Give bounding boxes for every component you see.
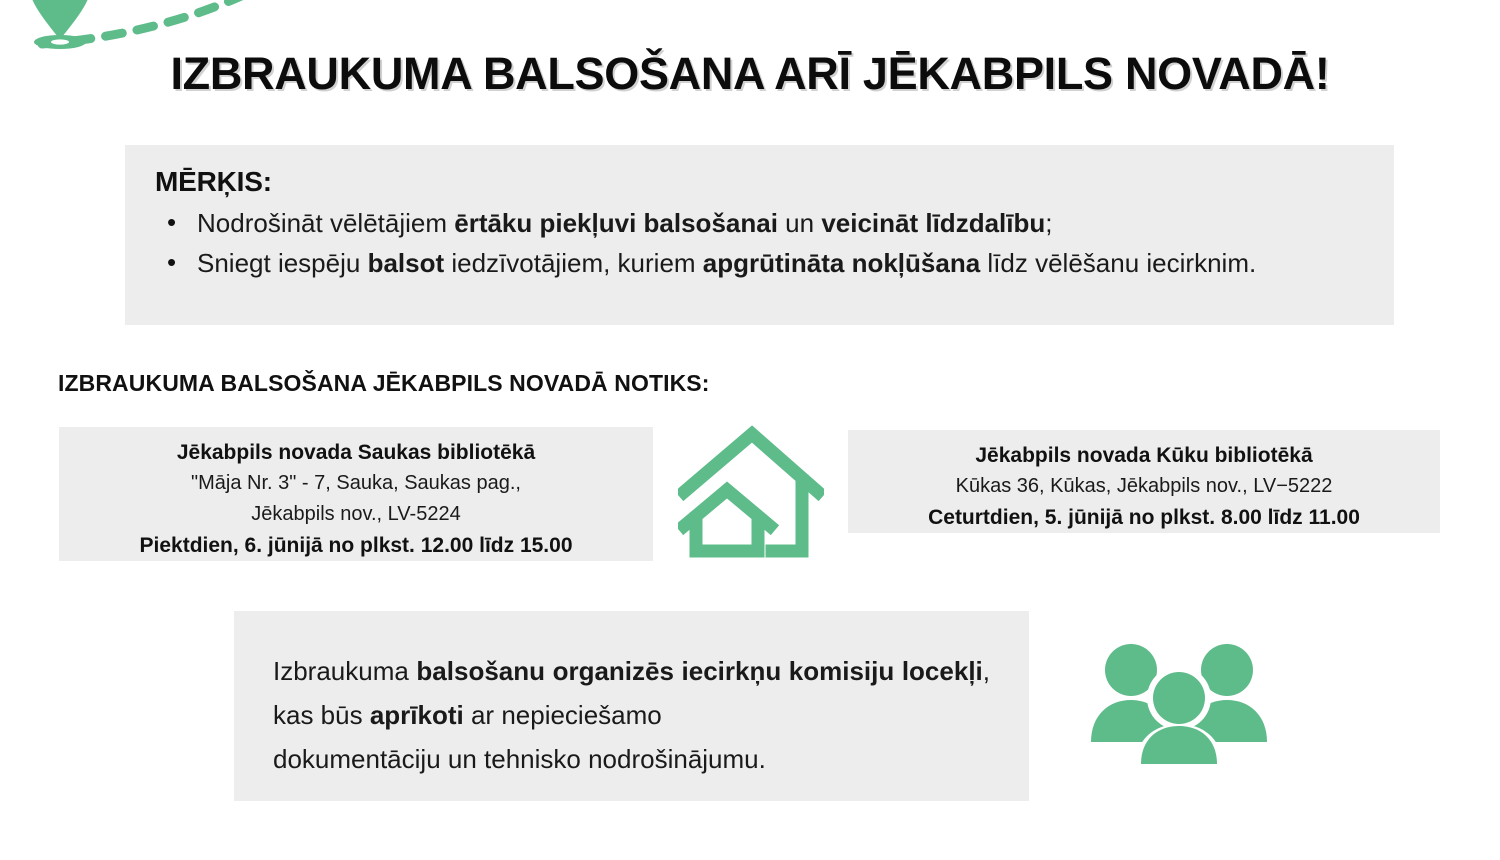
info-panel: Izbraukuma balsošanu organizēs iecirkņu …: [234, 611, 1029, 801]
location-address-line1: "Māja Nr. 3" - 7, Sauka, Saukas pag.,: [71, 468, 641, 499]
location-card-sauka: Jēkabpils novada Saukas bibliotēkā "Māja…: [59, 427, 653, 561]
people-group-icon: [1083, 634, 1275, 774]
goal-bullet-list: Nodrošināt vēlētājiem ērtāku piekļuvi ba…: [143, 203, 1364, 283]
dashed-route-icon: [42, 0, 420, 44]
goal-heading: MĒRĶIS:: [155, 165, 1364, 199]
location-name: Jēkabpils novada Saukas bibliotēkā: [71, 437, 641, 468]
location-name: Jēkabpils novada Kūku bibliotēkā: [860, 440, 1428, 471]
goal-panel: MĒRĶIS: Nodrošināt vēlētājiem ērtāku pie…: [125, 145, 1394, 325]
goal-bullet-1: Nodrošināt vēlētājiem ērtāku piekļuvi ba…: [143, 203, 1364, 243]
house-icon: [678, 425, 824, 559]
location-schedule: Ceturtdien, 5. jūnijā no plkst. 8.00 līd…: [860, 502, 1428, 533]
poster-title: IZBRAUKUMA BALSOŠANA ARĪ JĒKABPILS NOVAD…: [0, 44, 1500, 104]
goal-bullet-1-text: Nodrošināt vēlētājiem ērtāku piekļuvi ba…: [197, 208, 1052, 238]
info-paragraph-lastline: dokumentāciju un tehnisko nodrošinājumu.: [273, 737, 990, 781]
goal-bullet-2: Sniegt iespēju balsot iedzīvotājiem, kur…: [143, 243, 1364, 283]
goal-bullet-2-text: Sniegt iespēju balsot iedzīvotājiem, kur…: [197, 248, 1139, 278]
location-address-line1: Kūkas 36, Kūkas, Jēkabpils nov., LV−5222: [860, 471, 1428, 502]
location-card-kukas: Jēkabpils novada Kūku bibliotēkā Kūkas 3…: [848, 430, 1440, 533]
info-paragraph-text: Izbraukuma balsošanu organizēs iecirkņu …: [273, 656, 990, 730]
location-schedule: Piektdien, 6. jūnijā no plkst. 12.00 līd…: [71, 530, 641, 561]
locations-section-heading: IZBRAUKUMA BALSOŠANA JĒKABPILS NOVADĀ NO…: [58, 370, 710, 397]
goal-bullet-2-lastline: iecirknim.: [1146, 248, 1256, 278]
map-pin-icon: [28, 0, 92, 49]
location-address-line2: Jēkabpils nov., LV-5224: [71, 499, 641, 530]
info-paragraph: Izbraukuma balsošanu organizēs iecirkņu …: [273, 649, 990, 781]
